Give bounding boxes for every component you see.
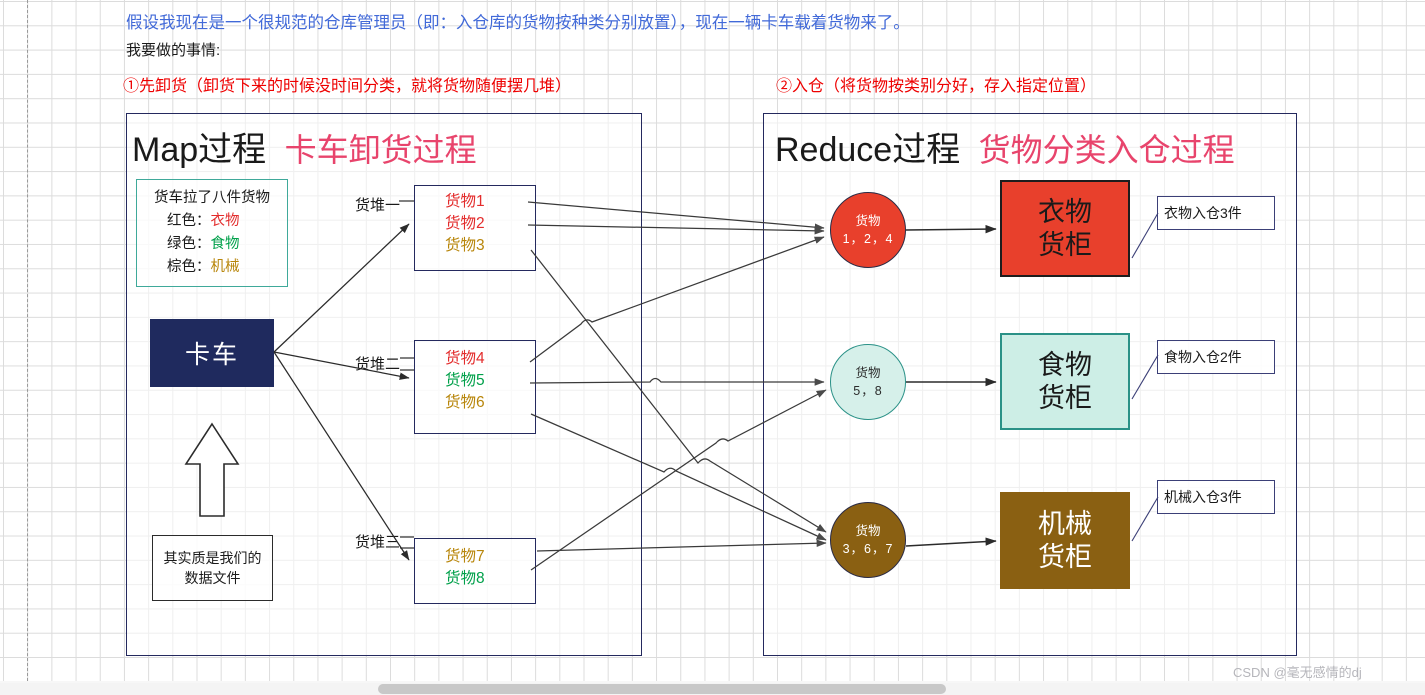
map-title-cn: 卡车卸货过程 bbox=[285, 132, 477, 168]
goods-item: 货物7 bbox=[445, 546, 535, 568]
circle-ids: 1，2，4 bbox=[843, 230, 894, 248]
data-file-note-line2: 数据文件 bbox=[185, 568, 241, 588]
legend-row-food: 绿色：食物 bbox=[137, 232, 287, 253]
goods-item: 货物1 bbox=[445, 191, 535, 213]
legend-key-clothes: 红色： bbox=[167, 213, 211, 229]
data-file-note: 其实质是我们的 数据文件 bbox=[152, 535, 273, 601]
intro-text-blue: 假设我现在是一个很规范的仓库管理员（即：入仓库的货物按种类分别放置），现在一辆卡… bbox=[126, 9, 910, 33]
reduce-group-circle-clothes: 货物 1，2，4 bbox=[830, 192, 906, 268]
step-1-text: ①先卸货（卸货下来的时候没时间分类，就将货物随便摆几堆） bbox=[123, 72, 571, 96]
legend-row-machinery: 棕色：机械 bbox=[137, 255, 287, 276]
circle-ids: 3，6，7 bbox=[843, 540, 894, 558]
reduce-panel-title: Reduce过程 货物分类入仓过程 bbox=[775, 122, 1235, 171]
truck-label: 卡车 bbox=[185, 335, 239, 371]
horizontal-scrollbar-thumb[interactable] bbox=[378, 684, 946, 694]
goods-item: 货物6 bbox=[445, 392, 535, 414]
pile-box-2: 货物4 货物5 货物6 bbox=[414, 340, 536, 434]
cabinet-food: 食物 货柜 bbox=[1000, 333, 1130, 430]
circle-title: 货物 bbox=[855, 212, 880, 230]
legend-value-food: 食物 bbox=[211, 236, 240, 252]
circle-ids: 5，8 bbox=[853, 382, 882, 400]
circle-title: 货物 bbox=[855, 522, 880, 540]
cabinet-line2: 货柜 bbox=[1038, 229, 1092, 261]
goods-item: 货物3 bbox=[445, 235, 535, 257]
map-title-en: Map过程 bbox=[132, 131, 266, 169]
pile-box-1: 货物1 货物2 货物3 bbox=[414, 185, 536, 271]
pile-box-3: 货物7 货物8 bbox=[414, 538, 536, 604]
diagram-canvas: 假设我现在是一个很规范的仓库管理员（即：入仓库的货物按种类分别放置），现在一辆卡… bbox=[0, 0, 1425, 695]
pile-label-1: 货堆一 bbox=[355, 194, 400, 215]
count-note-machinery: 机械入仓3件 bbox=[1157, 480, 1275, 514]
legend-key-machinery: 棕色： bbox=[167, 259, 211, 275]
cabinet-clothes: 衣物 货柜 bbox=[1000, 180, 1130, 277]
legend-heading: 货车拉了八件货物 bbox=[137, 186, 287, 207]
cabinet-machinery: 机械 货柜 bbox=[1000, 492, 1130, 589]
pile-label-2: 货堆二 bbox=[355, 353, 400, 374]
legend-row-clothes: 红色：衣物 bbox=[137, 209, 287, 230]
map-panel-title: Map过程 卡车卸货过程 bbox=[132, 122, 477, 171]
legend-key-food: 绿色： bbox=[167, 236, 211, 252]
goods-item: 货物8 bbox=[445, 568, 535, 590]
step-2-text: ②入仓（将货物按类别分好，存入指定位置） bbox=[776, 72, 1096, 96]
cabinet-line1: 机械 bbox=[1038, 508, 1092, 540]
goods-item: 货物5 bbox=[445, 370, 535, 392]
pile-label-3: 货堆三 bbox=[355, 531, 400, 552]
goods-item: 货物4 bbox=[445, 348, 535, 370]
cabinet-line2: 货柜 bbox=[1038, 382, 1092, 414]
todo-label: 我要做的事情: bbox=[126, 39, 220, 60]
goods-item: 货物2 bbox=[445, 213, 535, 235]
reduce-group-circle-machinery: 货物 3，6，7 bbox=[830, 502, 906, 578]
reduce-title-cn: 货物分类入仓过程 bbox=[979, 132, 1235, 168]
legend-value-machinery: 机械 bbox=[211, 259, 240, 275]
legend-value-clothes: 衣物 bbox=[211, 213, 240, 229]
data-file-note-line1: 其实质是我们的 bbox=[164, 548, 262, 568]
page-margin-dashed-line bbox=[27, 0, 28, 681]
truck-node: 卡车 bbox=[150, 319, 274, 387]
reduce-title-en: Reduce过程 bbox=[775, 131, 960, 169]
cabinet-line2: 货柜 bbox=[1038, 541, 1092, 573]
up-arrow-icon bbox=[182, 420, 242, 520]
circle-title: 货物 bbox=[855, 364, 880, 382]
cabinet-line1: 食物 bbox=[1038, 349, 1092, 381]
count-note-clothes: 衣物入仓3件 bbox=[1157, 196, 1275, 230]
goods-color-legend: 货车拉了八件货物 红色：衣物 绿色：食物 棕色：机械 bbox=[136, 179, 288, 287]
count-note-food: 食物入仓2件 bbox=[1157, 340, 1275, 374]
csdn-watermark: CSDN @毫无感情的dj bbox=[1233, 662, 1362, 681]
reduce-group-circle-food: 货物 5，8 bbox=[830, 344, 906, 420]
cabinet-line1: 衣物 bbox=[1038, 196, 1092, 228]
